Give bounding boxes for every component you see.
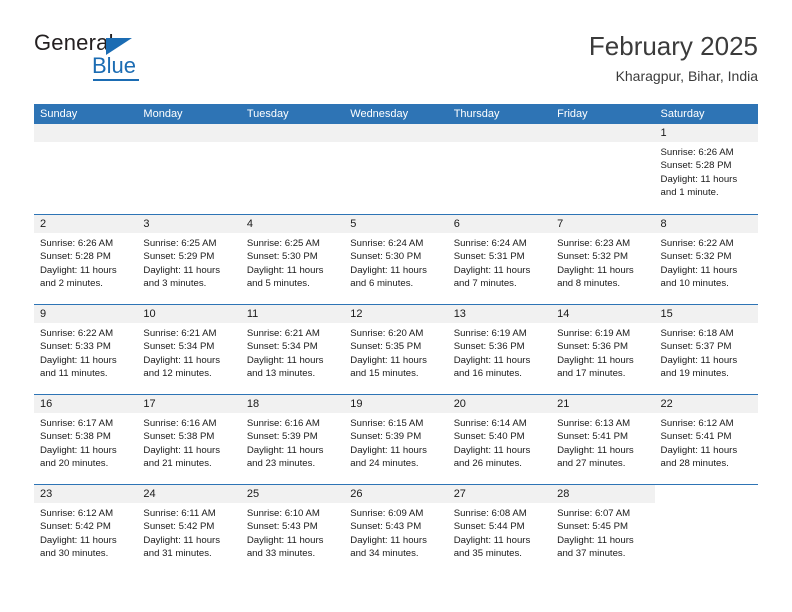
sunset-line: Sunset: 5:38 PM [143,430,234,443]
daylight-line-2: and 12 minutes. [143,367,234,380]
sunset-line: Sunset: 5:43 PM [247,520,338,533]
daylight-line-2: and 2 minutes. [40,277,131,290]
day-number: 27 [448,485,551,503]
sunset-line: Sunset: 5:34 PM [143,340,234,353]
day-cell-27[interactable]: 27Sunrise: 6:08 AMSunset: 5:44 PMDayligh… [448,485,551,574]
logo-text-blue: Blue [92,53,136,79]
sunrise-line: Sunrise: 6:16 AM [143,417,234,430]
day-info: Sunrise: 6:21 AMSunset: 5:34 PMDaylight:… [241,323,344,381]
day-cell-7[interactable]: 7Sunrise: 6:23 AMSunset: 5:32 PMDaylight… [551,215,654,304]
daylight-line: Daylight: 11 hours [143,444,234,457]
sunrise-line: Sunrise: 6:08 AM [454,507,545,520]
day-number: 18 [241,395,344,413]
day-number: 26 [344,485,447,503]
sunrise-line: Sunrise: 6:26 AM [40,237,131,250]
day-number: 22 [655,395,758,413]
daylight-line: Daylight: 11 hours [454,354,545,367]
day-number: 13 [448,305,551,323]
daylight-line: Daylight: 11 hours [40,264,131,277]
sunset-line: Sunset: 5:28 PM [661,159,752,172]
daylight-line-2: and 15 minutes. [350,367,441,380]
daylight-line: Daylight: 11 hours [350,354,441,367]
sunset-line: Sunset: 5:32 PM [557,250,648,263]
daylight-line-2: and 20 minutes. [40,457,131,470]
day-number: 4 [241,215,344,233]
day-info: Sunrise: 6:14 AMSunset: 5:40 PMDaylight:… [448,413,551,471]
day-cell-10[interactable]: 10Sunrise: 6:21 AMSunset: 5:34 PMDayligh… [137,305,240,394]
sunset-line: Sunset: 5:30 PM [350,250,441,263]
day-number: 15 [655,305,758,323]
sunrise-line: Sunrise: 6:21 AM [247,327,338,340]
sunrise-line: Sunrise: 6:07 AM [557,507,648,520]
daylight-line: Daylight: 11 hours [247,534,338,547]
daylight-line-2: and 24 minutes. [350,457,441,470]
daylight-line-2: and 27 minutes. [557,457,648,470]
sunset-line: Sunset: 5:41 PM [661,430,752,443]
day-info: Sunrise: 6:23 AMSunset: 5:32 PMDaylight:… [551,233,654,291]
day-info: Sunrise: 6:09 AMSunset: 5:43 PMDaylight:… [344,503,447,561]
daylight-line-2: and 5 minutes. [247,277,338,290]
sunrise-line: Sunrise: 6:14 AM [454,417,545,430]
day-info: Sunrise: 6:21 AMSunset: 5:34 PMDaylight:… [137,323,240,381]
daylight-line: Daylight: 11 hours [454,534,545,547]
day-number: 21 [551,395,654,413]
sunrise-line: Sunrise: 6:16 AM [247,417,338,430]
sunrise-line: Sunrise: 6:11 AM [143,507,234,520]
daylight-line-2: and 16 minutes. [454,367,545,380]
page-title: February 2025 [589,30,758,62]
day-number [241,124,344,142]
daylight-line: Daylight: 11 hours [143,354,234,367]
sunrise-line: Sunrise: 6:22 AM [661,237,752,250]
day-cell-empty [34,124,137,214]
daylight-line-2: and 10 minutes. [661,277,752,290]
sunset-line: Sunset: 5:32 PM [661,250,752,263]
daylight-line-2: and 19 minutes. [661,367,752,380]
calendar-week-row: 2Sunrise: 6:26 AMSunset: 5:28 PMDaylight… [34,214,758,304]
title-block: February 2025 Kharagpur, Bihar, India [589,30,758,86]
day-cell-empty [655,485,758,574]
day-info: Sunrise: 6:20 AMSunset: 5:35 PMDaylight:… [344,323,447,381]
sunset-line: Sunset: 5:33 PM [40,340,131,353]
sunset-line: Sunset: 5:37 PM [661,340,752,353]
calendar-week-row: 16Sunrise: 6:17 AMSunset: 5:38 PMDayligh… [34,394,758,484]
daylight-line: Daylight: 11 hours [661,173,752,186]
daylight-line: Daylight: 11 hours [661,354,752,367]
daylight-line: Daylight: 11 hours [661,264,752,277]
day-number: 8 [655,215,758,233]
daylight-line: Daylight: 11 hours [557,534,648,547]
weekday-header-tuesday: Tuesday [241,104,344,124]
day-info: Sunrise: 6:22 AMSunset: 5:32 PMDaylight:… [655,233,758,291]
sunrise-line: Sunrise: 6:09 AM [350,507,441,520]
day-cell-14[interactable]: 14Sunrise: 6:19 AMSunset: 5:36 PMDayligh… [551,305,654,394]
sunset-line: Sunset: 5:34 PM [247,340,338,353]
daylight-line: Daylight: 11 hours [40,534,131,547]
day-info: Sunrise: 6:26 AMSunset: 5:28 PMDaylight:… [655,142,758,200]
daylight-line: Daylight: 11 hours [557,354,648,367]
day-cell-8[interactable]: 8Sunrise: 6:22 AMSunset: 5:32 PMDaylight… [655,215,758,304]
daylight-line-2: and 6 minutes. [350,277,441,290]
sunset-line: Sunset: 5:36 PM [557,340,648,353]
day-cell-11[interactable]: 11Sunrise: 6:21 AMSunset: 5:34 PMDayligh… [241,305,344,394]
day-info: Sunrise: 6:25 AMSunset: 5:29 PMDaylight:… [137,233,240,291]
daylight-line: Daylight: 11 hours [40,444,131,457]
generalblue-logo[interactable]: General Blue [34,30,264,86]
weekday-header-saturday: Saturday [655,104,758,124]
daylight-line: Daylight: 11 hours [350,444,441,457]
day-cell-15[interactable]: 15Sunrise: 6:18 AMSunset: 5:37 PMDayligh… [655,305,758,394]
sunset-line: Sunset: 5:45 PM [557,520,648,533]
sunset-line: Sunset: 5:29 PM [143,250,234,263]
day-info: Sunrise: 6:11 AMSunset: 5:42 PMDaylight:… [137,503,240,561]
day-cell-22[interactable]: 22Sunrise: 6:12 AMSunset: 5:41 PMDayligh… [655,395,758,484]
daylight-line: Daylight: 11 hours [454,444,545,457]
sunset-line: Sunset: 5:28 PM [40,250,131,263]
sunset-line: Sunset: 5:39 PM [350,430,441,443]
weekday-header-monday: Monday [137,104,240,124]
daylight-line-2: and 31 minutes. [143,547,234,560]
sunrise-line: Sunrise: 6:18 AM [661,327,752,340]
sunrise-line: Sunrise: 6:12 AM [40,507,131,520]
day-cell-16[interactable]: 16Sunrise: 6:17 AMSunset: 5:38 PMDayligh… [34,395,137,484]
sunset-line: Sunset: 5:31 PM [454,250,545,263]
sunrise-line: Sunrise: 6:24 AM [454,237,545,250]
logo-underline [93,79,139,81]
sunrise-line: Sunrise: 6:24 AM [350,237,441,250]
sunrise-line: Sunrise: 6:22 AM [40,327,131,340]
day-cell-empty [344,124,447,214]
day-number: 24 [137,485,240,503]
sunset-line: Sunset: 5:35 PM [350,340,441,353]
sunrise-line: Sunrise: 6:10 AM [247,507,338,520]
weekday-header-sunday: Sunday [34,104,137,124]
day-number: 14 [551,305,654,323]
sunset-line: Sunset: 5:39 PM [247,430,338,443]
calendar-week-row: 23Sunrise: 6:12 AMSunset: 5:42 PMDayligh… [34,484,758,574]
daylight-line-2: and 35 minutes. [454,547,545,560]
day-info: Sunrise: 6:12 AMSunset: 5:42 PMDaylight:… [34,503,137,561]
daylight-line: Daylight: 11 hours [247,354,338,367]
sunset-line: Sunset: 5:42 PM [143,520,234,533]
daylight-line: Daylight: 11 hours [557,264,648,277]
day-info: Sunrise: 6:16 AMSunset: 5:39 PMDaylight:… [241,413,344,471]
sunrise-line: Sunrise: 6:23 AM [557,237,648,250]
day-number: 17 [137,395,240,413]
day-number: 2 [34,215,137,233]
day-cell-17[interactable]: 17Sunrise: 6:16 AMSunset: 5:38 PMDayligh… [137,395,240,484]
weekday-header-friday: Friday [551,104,654,124]
day-cell-2[interactable]: 2Sunrise: 6:26 AMSunset: 5:28 PMDaylight… [34,215,137,304]
day-number: 1 [655,124,758,142]
day-cell-3[interactable]: 3Sunrise: 6:25 AMSunset: 5:29 PMDaylight… [137,215,240,304]
sunrise-line: Sunrise: 6:25 AM [143,237,234,250]
sunset-line: Sunset: 5:36 PM [454,340,545,353]
daylight-line: Daylight: 11 hours [350,264,441,277]
daylight-line: Daylight: 11 hours [40,354,131,367]
day-number [655,485,758,503]
calendar-page: General Blue February 2025 Kharagpur, Bi… [0,0,792,612]
day-info: Sunrise: 6:19 AMSunset: 5:36 PMDaylight:… [551,323,654,381]
sunset-line: Sunset: 5:30 PM [247,250,338,263]
daylight-line: Daylight: 11 hours [143,264,234,277]
day-number [344,124,447,142]
sunrise-line: Sunrise: 6:19 AM [454,327,545,340]
sunset-line: Sunset: 5:44 PM [454,520,545,533]
page-header: General Blue February 2025 Kharagpur, Bi… [34,30,758,92]
sunrise-line: Sunrise: 6:13 AM [557,417,648,430]
calendar-week-row: 9Sunrise: 6:22 AMSunset: 5:33 PMDaylight… [34,304,758,394]
day-info: Sunrise: 6:24 AMSunset: 5:30 PMDaylight:… [344,233,447,291]
daylight-line-2: and 17 minutes. [557,367,648,380]
day-cell-20[interactable]: 20Sunrise: 6:14 AMSunset: 5:40 PMDayligh… [448,395,551,484]
day-number: 19 [344,395,447,413]
day-number: 6 [448,215,551,233]
day-info: Sunrise: 6:16 AMSunset: 5:38 PMDaylight:… [137,413,240,471]
sunset-line: Sunset: 5:42 PM [40,520,131,533]
day-cell-21[interactable]: 21Sunrise: 6:13 AMSunset: 5:41 PMDayligh… [551,395,654,484]
daylight-line-2: and 23 minutes. [247,457,338,470]
day-cell-4[interactable]: 4Sunrise: 6:25 AMSunset: 5:30 PMDaylight… [241,215,344,304]
day-cell-empty [551,124,654,214]
day-number: 20 [448,395,551,413]
sunrise-line: Sunrise: 6:21 AM [143,327,234,340]
daylight-line-2: and 26 minutes. [454,457,545,470]
day-number: 28 [551,485,654,503]
sunset-line: Sunset: 5:38 PM [40,430,131,443]
day-cell-6[interactable]: 6Sunrise: 6:24 AMSunset: 5:31 PMDaylight… [448,215,551,304]
day-cell-1[interactable]: 1Sunrise: 6:26 AMSunset: 5:28 PMDaylight… [655,124,758,214]
day-cell-12[interactable]: 12Sunrise: 6:20 AMSunset: 5:35 PMDayligh… [344,305,447,394]
page-subtitle: Kharagpur, Bihar, India [589,66,758,86]
day-cell-24[interactable]: 24Sunrise: 6:11 AMSunset: 5:42 PMDayligh… [137,485,240,574]
weekday-header-wednesday: Wednesday [344,104,447,124]
day-number [551,124,654,142]
day-info: Sunrise: 6:17 AMSunset: 5:38 PMDaylight:… [34,413,137,471]
daylight-line-2: and 28 minutes. [661,457,752,470]
day-info: Sunrise: 6:24 AMSunset: 5:31 PMDaylight:… [448,233,551,291]
daylight-line-2: and 1 minute. [661,186,752,199]
daylight-line-2: and 34 minutes. [350,547,441,560]
day-number: 11 [241,305,344,323]
day-info: Sunrise: 6:19 AMSunset: 5:36 PMDaylight:… [448,323,551,381]
day-number: 16 [34,395,137,413]
day-number: 5 [344,215,447,233]
day-info: Sunrise: 6:10 AMSunset: 5:43 PMDaylight:… [241,503,344,561]
daylight-line-2: and 30 minutes. [40,547,131,560]
daylight-line: Daylight: 11 hours [557,444,648,457]
daylight-line: Daylight: 11 hours [454,264,545,277]
sunrise-line: Sunrise: 6:26 AM [661,146,752,159]
day-number: 12 [344,305,447,323]
day-number: 25 [241,485,344,503]
day-number: 10 [137,305,240,323]
day-info: Sunrise: 6:26 AMSunset: 5:28 PMDaylight:… [34,233,137,291]
sunrise-line: Sunrise: 6:17 AM [40,417,131,430]
day-number [448,124,551,142]
daylight-line-2: and 21 minutes. [143,457,234,470]
sunrise-line: Sunrise: 6:15 AM [350,417,441,430]
daylight-line-2: and 8 minutes. [557,277,648,290]
sunrise-line: Sunrise: 6:12 AM [661,417,752,430]
sunset-line: Sunset: 5:43 PM [350,520,441,533]
calendar-week-row: 1Sunrise: 6:26 AMSunset: 5:28 PMDaylight… [34,124,758,214]
day-cell-18[interactable]: 18Sunrise: 6:16 AMSunset: 5:39 PMDayligh… [241,395,344,484]
day-info: Sunrise: 6:25 AMSunset: 5:30 PMDaylight:… [241,233,344,291]
sunrise-line: Sunrise: 6:20 AM [350,327,441,340]
sunset-line: Sunset: 5:41 PM [557,430,648,443]
calendar-weeks: 1Sunrise: 6:26 AMSunset: 5:28 PMDaylight… [34,124,758,574]
sunrise-line: Sunrise: 6:25 AM [247,237,338,250]
day-cell-empty [137,124,240,214]
day-cell-28[interactable]: 28Sunrise: 6:07 AMSunset: 5:45 PMDayligh… [551,485,654,574]
day-number: 23 [34,485,137,503]
daylight-line-2: and 7 minutes. [454,277,545,290]
daylight-line: Daylight: 11 hours [143,534,234,547]
day-cell-empty [241,124,344,214]
day-info: Sunrise: 6:12 AMSunset: 5:41 PMDaylight:… [655,413,758,471]
day-info: Sunrise: 6:22 AMSunset: 5:33 PMDaylight:… [34,323,137,381]
sunset-line: Sunset: 5:40 PM [454,430,545,443]
day-cell-13[interactable]: 13Sunrise: 6:19 AMSunset: 5:36 PMDayligh… [448,305,551,394]
day-cell-5[interactable]: 5Sunrise: 6:24 AMSunset: 5:30 PMDaylight… [344,215,447,304]
day-cell-23[interactable]: 23Sunrise: 6:12 AMSunset: 5:42 PMDayligh… [34,485,137,574]
daylight-line-2: and 37 minutes. [557,547,648,560]
weekday-header-thursday: Thursday [448,104,551,124]
day-cell-19[interactable]: 19Sunrise: 6:15 AMSunset: 5:39 PMDayligh… [344,395,447,484]
sunrise-line: Sunrise: 6:19 AM [557,327,648,340]
day-info: Sunrise: 6:08 AMSunset: 5:44 PMDaylight:… [448,503,551,561]
daylight-line-2: and 3 minutes. [143,277,234,290]
day-number: 7 [551,215,654,233]
daylight-line-2: and 11 minutes. [40,367,131,380]
weekday-header-row: SundayMondayTuesdayWednesdayThursdayFrid… [34,104,758,124]
daylight-line: Daylight: 11 hours [661,444,752,457]
day-number: 9 [34,305,137,323]
daylight-line: Daylight: 11 hours [350,534,441,547]
day-number [34,124,137,142]
day-info: Sunrise: 6:15 AMSunset: 5:39 PMDaylight:… [344,413,447,471]
day-cell-empty [448,124,551,214]
day-cell-25[interactable]: 25Sunrise: 6:10 AMSunset: 5:43 PMDayligh… [241,485,344,574]
day-info: Sunrise: 6:07 AMSunset: 5:45 PMDaylight:… [551,503,654,561]
day-cell-26[interactable]: 26Sunrise: 6:09 AMSunset: 5:43 PMDayligh… [344,485,447,574]
calendar-grid: SundayMondayTuesdayWednesdayThursdayFrid… [34,104,758,574]
daylight-line: Daylight: 11 hours [247,444,338,457]
day-info: Sunrise: 6:13 AMSunset: 5:41 PMDaylight:… [551,413,654,471]
day-number [137,124,240,142]
day-info: Sunrise: 6:18 AMSunset: 5:37 PMDaylight:… [655,323,758,381]
daylight-line-2: and 33 minutes. [247,547,338,560]
daylight-line: Daylight: 11 hours [247,264,338,277]
day-cell-9[interactable]: 9Sunrise: 6:22 AMSunset: 5:33 PMDaylight… [34,305,137,394]
daylight-line-2: and 13 minutes. [247,367,338,380]
day-number: 3 [137,215,240,233]
